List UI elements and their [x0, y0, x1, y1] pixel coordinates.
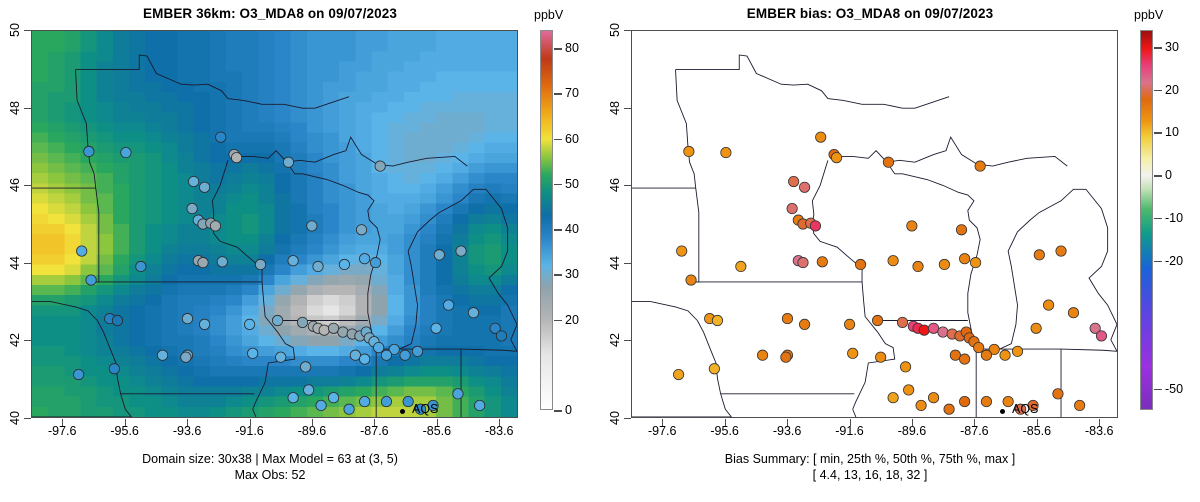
- map-boundary: [287, 162, 380, 255]
- aqs-site-marker[interactable]: [1068, 308, 1078, 318]
- aqs-site-marker[interactable]: [456, 246, 466, 256]
- aqs-site-marker[interactable]: [328, 323, 338, 333]
- x-axis-label: -87.6: [960, 424, 989, 438]
- map-boundary: [676, 55, 950, 108]
- footer-bias-line1: Bias Summary: [ min, 25th %, 50th %, 75t…: [600, 452, 1140, 467]
- aqs-site-marker[interactable]: [1034, 250, 1044, 260]
- map-boundary: [439, 189, 517, 340]
- map-boundary: [94, 188, 99, 282]
- aqs-site-marker[interactable]: [816, 132, 826, 142]
- y-axis-tick: [24, 340, 31, 341]
- colorbar-tick: [554, 229, 562, 231]
- aqs-site-marker[interactable]: [255, 259, 265, 269]
- x-axis-label: -95.6: [710, 424, 739, 438]
- panel-bias: EMBER bias: O3_MDA8 on 09/07/2023 AQS 40…: [600, 0, 1200, 502]
- aqs-legend-marker-model: [400, 409, 405, 414]
- aqs-site-marker[interactable]: [474, 400, 484, 410]
- aqs-site-marker[interactable]: [73, 369, 83, 379]
- aqs-site-marker[interactable]: [297, 317, 307, 327]
- x-axis-label: -89.6: [898, 424, 927, 438]
- map-boundary: [212, 160, 228, 224]
- aqs-site-marker[interactable]: [673, 369, 683, 379]
- aqs-site-marker[interactable]: [272, 315, 282, 325]
- colorbar-gradient-model: [540, 30, 553, 410]
- x-axis-label: -95.6: [110, 424, 139, 438]
- map-boundary: [234, 137, 467, 166]
- aqs-site-marker[interactable]: [798, 257, 808, 267]
- colorbar-tick-label: -50: [1165, 382, 1183, 396]
- aqs-site-marker[interactable]: [872, 315, 882, 325]
- aqs-site-marker[interactable]: [400, 350, 410, 360]
- aqs-site-marker[interactable]: [939, 259, 949, 269]
- colorbar-tick: [1154, 389, 1162, 391]
- aqs-site-marker[interactable]: [938, 327, 948, 337]
- map-boundary: [676, 70, 696, 188]
- aqs-site-marker[interactable]: [973, 342, 983, 352]
- aqs-site-marker[interactable]: [231, 152, 241, 162]
- aqs-site-marker[interactable]: [121, 147, 131, 157]
- aqs-site-marker[interactable]: [757, 350, 767, 360]
- aqs-site-marker[interactable]: [916, 400, 926, 410]
- colorbar-tick: [1154, 90, 1162, 92]
- panel-title-bias: EMBER bias: O3_MDA8 on 09/07/2023: [600, 6, 1140, 21]
- y-axis-tick: [624, 263, 631, 264]
- aqs-site-marker[interactable]: [799, 319, 809, 329]
- aqs-site-marker[interactable]: [781, 352, 791, 362]
- aqs-legend-marker-bias: [1000, 409, 1005, 414]
- y-axis-tick: [24, 185, 31, 186]
- figure-root: EMBER 36km: O3_MDA8 on 09/07/2023 AQS 40…: [0, 0, 1200, 502]
- aqs-site-marker[interactable]: [1012, 346, 1022, 356]
- colorbar-tick: [1154, 132, 1162, 134]
- y-axis-tick: [624, 108, 631, 109]
- x-axis-label: -93.6: [173, 424, 202, 438]
- model-map-overlay: [32, 31, 517, 417]
- aqs-site-marker[interactable]: [187, 203, 197, 213]
- aqs-site-marker[interactable]: [328, 393, 338, 403]
- aqs-site-marker[interactable]: [817, 257, 827, 267]
- y-axis-label: 42: [8, 327, 22, 353]
- footer-model-line1: Domain size: 30x38 | Max Model = 63 at (…: [0, 452, 540, 467]
- y-axis-label: 50: [8, 17, 22, 43]
- aqs-site-marker[interactable]: [199, 182, 209, 192]
- y-axis-label: 40: [608, 405, 622, 431]
- colorbar-tick-label: 20: [565, 313, 579, 327]
- aqs-site-marker[interactable]: [375, 161, 385, 171]
- plot-area-bias[interactable]: AQS: [631, 30, 1118, 418]
- colorbar-tick: [1154, 47, 1162, 49]
- colorbar-tick: [554, 139, 562, 141]
- map-boundary: [253, 409, 256, 417]
- aqs-legend-label-model: AQS: [412, 402, 438, 416]
- aqs-site-marker[interactable]: [109, 364, 119, 374]
- aqs-site-marker[interactable]: [307, 221, 317, 231]
- y-axis-tick: [624, 340, 631, 341]
- aqs-site-marker[interactable]: [1096, 331, 1106, 341]
- aqs-site-marker[interactable]: [359, 396, 369, 406]
- y-axis-label: 42: [608, 327, 622, 353]
- aqs-site-marker[interactable]: [897, 317, 907, 327]
- aqs-site-marker[interactable]: [283, 157, 293, 167]
- aqs-site-marker[interactable]: [182, 313, 192, 323]
- aqs-site-marker[interactable]: [288, 393, 298, 403]
- aqs-site-marker[interactable]: [888, 256, 898, 266]
- aqs-site-marker[interactable]: [712, 315, 722, 325]
- colorbar-tick: [1154, 218, 1162, 220]
- aqs-site-marker[interactable]: [686, 275, 696, 285]
- x-axis-label: -97.6: [48, 424, 77, 438]
- aqs-site-marker[interactable]: [736, 261, 746, 271]
- aqs-site-marker[interactable]: [848, 348, 858, 358]
- colorbar-tick-label: 80: [565, 41, 579, 55]
- aqs-site-marker[interactable]: [875, 352, 885, 362]
- aqs-site-marker[interactable]: [136, 261, 146, 271]
- aqs-site-marker[interactable]: [288, 256, 298, 266]
- colorbar-tick-label: 50: [565, 177, 579, 191]
- aqs-site-marker[interactable]: [434, 250, 444, 260]
- y-axis-label: 40: [8, 405, 22, 431]
- aqs-site-marker[interactable]: [210, 221, 220, 231]
- aqs-site-marker[interactable]: [900, 362, 910, 372]
- aqs-site-marker[interactable]: [799, 182, 809, 192]
- y-axis-tick: [24, 418, 31, 419]
- aqs-site-marker[interactable]: [721, 147, 731, 157]
- colorbar-tick-label: 60: [565, 132, 579, 146]
- aqs-site-marker[interactable]: [907, 221, 917, 231]
- y-axis-tick: [624, 418, 631, 419]
- aqs-legend-label-bias: AQS: [1012, 402, 1038, 416]
- colorbar-tick: [554, 184, 562, 186]
- y-axis-label: 44: [8, 250, 22, 276]
- aqs-site-marker[interactable]: [339, 259, 349, 269]
- y-axis-tick: [24, 263, 31, 264]
- x-axis-label: -85.6: [423, 424, 452, 438]
- aqs-site-marker[interactable]: [356, 225, 366, 235]
- colorbar-tick-label: 70: [565, 86, 579, 100]
- aqs-site-marker[interactable]: [303, 385, 313, 395]
- aqs-site-marker[interactable]: [903, 385, 913, 395]
- aqs-site-marker[interactable]: [970, 257, 980, 267]
- x-axis-label: -83.6: [1085, 424, 1114, 438]
- aqs-site-marker[interactable]: [959, 354, 969, 364]
- y-axis-tick: [624, 185, 631, 186]
- aqs-site-marker[interactable]: [928, 393, 938, 403]
- aqs-site-marker[interactable]: [443, 300, 453, 310]
- colorbar-tick-label: 0: [565, 403, 572, 417]
- colorbar-tick: [1154, 261, 1162, 263]
- colorbar-tick: [554, 410, 562, 412]
- colorbar-tick-label: 30: [565, 267, 579, 281]
- aqs-site-marker[interactable]: [468, 308, 478, 318]
- map-boundary: [32, 302, 97, 321]
- map-boundary: [853, 409, 856, 417]
- map-boundary: [834, 137, 1067, 166]
- footer-model-line2: Max Obs: 52: [0, 468, 540, 483]
- panel-model: EMBER 36km: O3_MDA8 on 09/07/2023 AQS 40…: [0, 0, 600, 502]
- aqs-site-marker[interactable]: [677, 246, 687, 256]
- aqs-site-marker[interactable]: [959, 254, 969, 264]
- y-axis-label: 46: [8, 172, 22, 198]
- bias-map-overlay: [632, 31, 1117, 417]
- aqs-site-marker[interactable]: [300, 362, 310, 372]
- aqs-site-marker[interactable]: [77, 246, 87, 256]
- aqs-site-marker[interactable]: [1056, 246, 1066, 256]
- aqs-site-marker[interactable]: [370, 257, 380, 267]
- colorbar-tick: [554, 274, 562, 276]
- x-axis-label: -85.6: [1023, 424, 1052, 438]
- aqs-site-marker[interactable]: [888, 393, 898, 403]
- aqs-site-marker[interactable]: [344, 404, 354, 414]
- aqs-site-marker[interactable]: [831, 152, 841, 162]
- y-axis-tick: [624, 30, 631, 31]
- map-boundary: [76, 55, 350, 108]
- aqs-site-marker[interactable]: [1043, 300, 1053, 310]
- panel-title-model: EMBER 36km: O3_MDA8 on 09/07/2023: [0, 6, 540, 21]
- colorbar-tick-label: -10: [1165, 211, 1183, 225]
- aqs-site-marker[interactable]: [950, 350, 960, 360]
- y-axis-label: 44: [608, 250, 622, 276]
- x-axis-label: -97.6: [648, 424, 677, 438]
- y-axis-label: 48: [608, 95, 622, 121]
- map-boundary: [812, 160, 828, 224]
- aqs-site-marker[interactable]: [883, 157, 893, 167]
- aqs-site-marker[interactable]: [359, 254, 369, 264]
- aqs-site-marker[interactable]: [157, 350, 167, 360]
- aqs-site-marker[interactable]: [959, 396, 969, 406]
- aqs-site-marker[interactable]: [844, 319, 854, 329]
- aqs-site-marker[interactable]: [913, 261, 923, 271]
- colorbar-tick-label: -20: [1165, 254, 1183, 268]
- x-axis-label: -83.6: [485, 424, 514, 438]
- aqs-site-marker[interactable]: [975, 161, 985, 171]
- aqs-site-marker[interactable]: [198, 257, 208, 267]
- map-boundary: [461, 340, 517, 352]
- aqs-site-marker[interactable]: [381, 350, 391, 360]
- colorbar-gradient-bias: [1140, 30, 1153, 410]
- aqs-site-marker[interactable]: [216, 132, 226, 142]
- aqs-site-marker[interactable]: [981, 396, 991, 406]
- map-boundary: [1061, 340, 1117, 352]
- plot-area-model[interactable]: AQS: [31, 30, 518, 418]
- aqs-site-marker[interactable]: [1000, 350, 1010, 360]
- x-axis-label: -91.6: [835, 424, 864, 438]
- aqs-site-marker[interactable]: [275, 352, 285, 362]
- aqs-site-marker[interactable]: [928, 323, 938, 333]
- colorbar-tick: [554, 320, 562, 322]
- aqs-site-marker[interactable]: [199, 319, 209, 329]
- map-boundary: [632, 302, 697, 321]
- aqs-site-marker[interactable]: [709, 364, 719, 374]
- y-axis-tick: [24, 108, 31, 109]
- colorbar-tick-label: 0: [1165, 168, 1172, 182]
- x-axis-label: -91.6: [235, 424, 264, 438]
- aqs-site-marker[interactable]: [1074, 400, 1084, 410]
- aqs-site-marker[interactable]: [944, 404, 954, 414]
- colorbar-unit-bias: ppbV: [1134, 8, 1163, 22]
- map-boundary: [694, 188, 699, 282]
- y-axis-label: 50: [608, 17, 622, 43]
- aqs-site-marker[interactable]: [787, 203, 797, 213]
- aqs-site-marker[interactable]: [112, 315, 122, 325]
- aqs-site-marker[interactable]: [1053, 389, 1063, 399]
- aqs-site-marker[interactable]: [381, 396, 391, 406]
- aqs-site-marker[interactable]: [217, 257, 227, 267]
- aqs-site-marker[interactable]: [244, 319, 254, 329]
- colorbar-unit-model: ppbV: [534, 8, 563, 22]
- aqs-site-marker[interactable]: [84, 146, 94, 156]
- aqs-site-marker[interactable]: [350, 350, 360, 360]
- map-boundary: [887, 162, 980, 255]
- aqs-site-marker[interactable]: [981, 350, 991, 360]
- aqs-site-marker[interactable]: [319, 325, 329, 335]
- map-boundary: [812, 224, 894, 409]
- colorbar-tick-label: 40: [565, 222, 579, 236]
- aqs-site-marker[interactable]: [338, 327, 348, 337]
- aqs-site-marker[interactable]: [412, 346, 422, 356]
- x-axis-label: -87.6: [360, 424, 389, 438]
- y-axis-label: 48: [8, 95, 22, 121]
- aqs-site-marker[interactable]: [810, 221, 820, 231]
- aqs-site-marker[interactable]: [248, 348, 258, 358]
- colorbar-tick: [1154, 175, 1162, 177]
- aqs-site-marker[interactable]: [313, 261, 323, 271]
- aqs-site-marker[interactable]: [684, 146, 694, 156]
- aqs-site-marker[interactable]: [86, 275, 96, 285]
- aqs-site-marker[interactable]: [373, 342, 383, 352]
- aqs-site-marker[interactable]: [316, 400, 326, 410]
- aqs-site-marker[interactable]: [855, 259, 865, 269]
- colorbar-tick-label: 20: [1165, 83, 1179, 97]
- aqs-site-marker[interactable]: [359, 354, 369, 364]
- aqs-site-marker[interactable]: [782, 313, 792, 323]
- colorbar-tick-label: 30: [1165, 40, 1179, 54]
- colorbar-tick: [554, 48, 562, 50]
- aqs-site-marker[interactable]: [496, 331, 506, 341]
- aqs-site-marker[interactable]: [956, 225, 966, 235]
- aqs-site-marker[interactable]: [188, 176, 198, 186]
- map-boundary: [76, 70, 96, 188]
- colorbar-tick: [554, 93, 562, 95]
- y-axis-label: 46: [608, 172, 622, 198]
- aqs-site-marker[interactable]: [453, 389, 463, 399]
- footer-bias-line2: [ 4.4, 13, 16, 18, 32 ]: [600, 468, 1140, 483]
- colorbar-tick-label: 10: [1165, 125, 1179, 139]
- aqs-site-marker[interactable]: [788, 176, 798, 186]
- y-axis-tick: [24, 30, 31, 31]
- map-boundary: [1039, 189, 1117, 340]
- x-axis-label: -89.6: [298, 424, 327, 438]
- aqs-site-marker[interactable]: [1031, 323, 1041, 333]
- aqs-site-marker[interactable]: [919, 325, 929, 335]
- aqs-site-marker[interactable]: [181, 352, 191, 362]
- aqs-site-marker[interactable]: [431, 323, 441, 333]
- map-boundary: [212, 224, 294, 409]
- x-axis-label: -93.6: [773, 424, 802, 438]
